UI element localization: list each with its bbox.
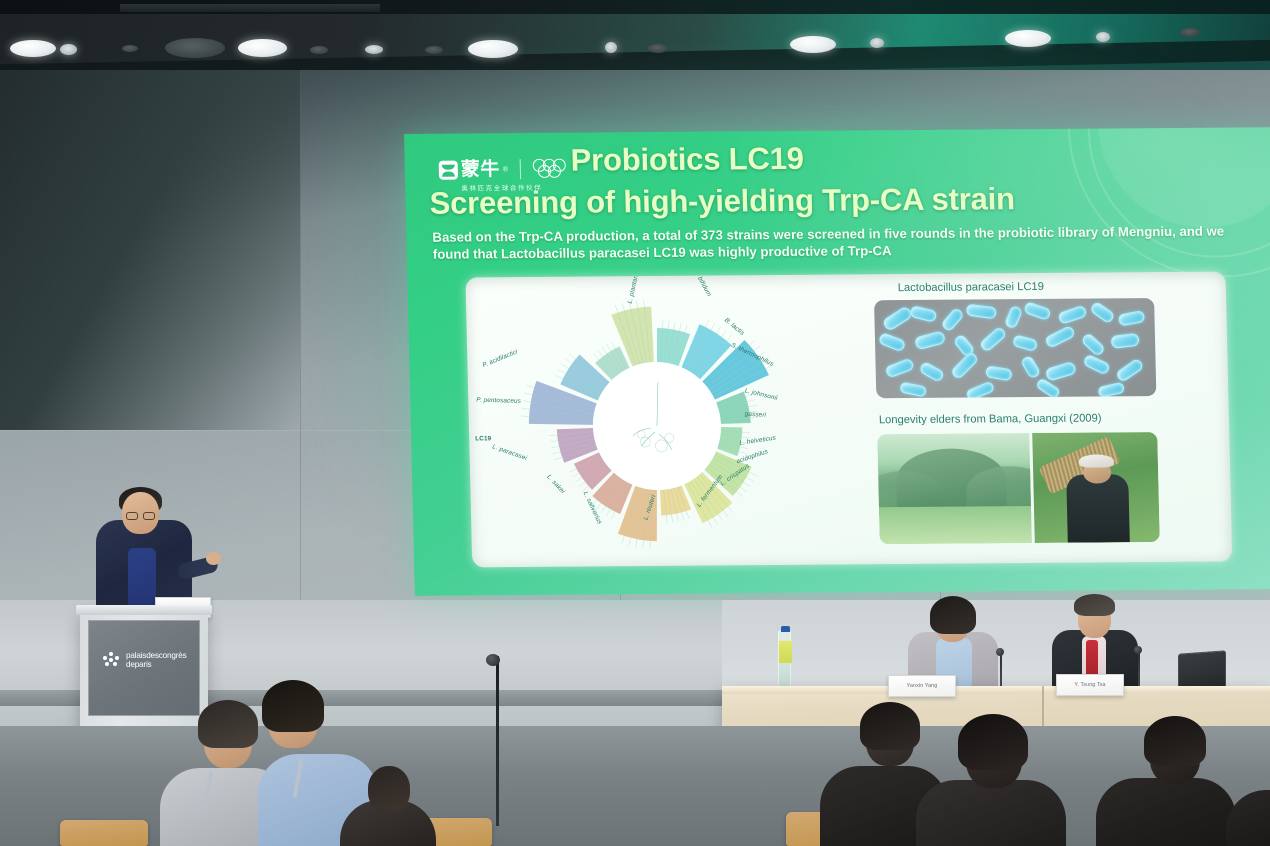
panelist-right-nameplate: Y. Tsung Tsa <box>1056 674 1124 696</box>
projected-slide: 蒙牛 ® 奥林匹克全球合作伙伴 Probiotics LC19 Screenin… <box>404 127 1270 596</box>
wall-panel-seam <box>300 70 301 630</box>
bottle-cap <box>781 626 790 632</box>
ceiling-downlight <box>425 46 443 54</box>
olympic-rings-icon <box>533 159 575 179</box>
mengniu-mark-icon <box>439 160 458 179</box>
slide-content-card: L. plantarum B. bifidum B. lactis S. the… <box>465 272 1232 568</box>
glasses-icon <box>126 512 156 520</box>
ceiling-downlight <box>605 42 617 53</box>
ceiling-downlight <box>310 46 328 54</box>
ceiling-downlight <box>238 39 287 57</box>
panelist-left-name: Yanxin Yang <box>907 683 938 689</box>
audience-hair <box>1144 716 1206 766</box>
panelist-right-hair <box>1074 594 1115 616</box>
ceiling-downlight <box>60 44 77 55</box>
audience-hair <box>860 702 920 750</box>
audience-hair <box>262 680 324 732</box>
ceiling-downlight <box>1180 28 1200 37</box>
sem-micrograph <box>874 298 1156 398</box>
audience-head <box>368 766 410 812</box>
water-bottle <box>778 630 791 688</box>
ceiling-downlight <box>1096 32 1110 42</box>
ceiling-downlight <box>122 45 138 52</box>
audience-chair[interactable] <box>60 820 148 846</box>
brand-divider <box>520 159 521 179</box>
audience-hair <box>198 700 258 748</box>
panelist-right-name: Y. Tsung Tsa <box>1074 682 1105 688</box>
conference-hall-scene: 蒙牛 ® 奥林匹克全球合作伙伴 Probiotics LC19 Screenin… <box>0 0 1270 846</box>
tree-inner-branches <box>471 278 878 565</box>
ceiling-downlight <box>648 44 668 53</box>
podium-logo-text: palaisdescongrès deparis <box>126 651 187 669</box>
microphone-stand <box>1138 650 1140 690</box>
ceiling-downlight <box>468 40 518 58</box>
bama-landscape-photo <box>877 433 1032 544</box>
ceiling-downlight <box>10 40 56 57</box>
microphone-icon <box>486 654 500 666</box>
microphone-stand <box>1000 652 1002 690</box>
slide-title-secondary: Screening of high-yielding Trp-CA strain <box>429 181 1015 222</box>
microphone-boom-stand <box>496 656 499 826</box>
ceiling-downlight <box>870 38 884 48</box>
ceiling-vent <box>165 38 225 58</box>
circular-phylogenetic-tree <box>471 278 878 565</box>
registered-mark: ® <box>503 166 508 173</box>
bama-elder-photo <box>1032 432 1159 543</box>
bama-photos <box>877 432 1160 544</box>
panel-table-edge <box>722 686 1270 694</box>
podium-top <box>76 605 212 615</box>
panelist-left-hair <box>930 596 976 634</box>
panelist-left-nameplate: Yanxin Yang <box>888 675 956 697</box>
audience-shoulders <box>916 780 1066 846</box>
bottle-label <box>779 641 792 663</box>
tree-label: gasseri <box>745 411 767 419</box>
tree-label-highlight: LC19 <box>475 435 491 442</box>
mengniu-logo: 蒙牛 ® <box>439 160 509 180</box>
sem-caption: Lactobacillus paracasei LC19 <box>898 281 1044 294</box>
palais-des-congres-logo: palaisdescongrès deparis <box>103 651 187 669</box>
wall-shadow-left <box>0 70 300 430</box>
slide-title-primary: Probiotics LC19 <box>570 141 804 179</box>
logo-dots-icon <box>103 652 120 669</box>
mengniu-name-cn: 蒙牛 <box>461 160 500 179</box>
podium-logo-line2: deparis <box>126 660 187 669</box>
ceiling-downlight <box>1005 30 1051 47</box>
ceiling-downlight <box>365 45 383 54</box>
slide-subtitle: Based on the Trp-CA production, a total … <box>432 223 1243 262</box>
microphone-icon <box>1134 646 1142 654</box>
photos-caption: Longevity elders from Bama, Guangxi (200… <box>879 412 1102 426</box>
ceiling-downlight <box>790 36 836 53</box>
tree-label: P. pentosaceus <box>476 397 521 405</box>
audience-shoulders <box>1096 778 1236 846</box>
speaker-hand <box>206 552 221 565</box>
podium-front-panel: palaisdescongrès deparis <box>88 620 200 716</box>
audience-hair <box>958 714 1028 770</box>
ceiling-duct <box>120 4 380 12</box>
podium-logo-line1: palaisdescongrès <box>126 651 187 660</box>
microphone-icon <box>996 648 1004 656</box>
